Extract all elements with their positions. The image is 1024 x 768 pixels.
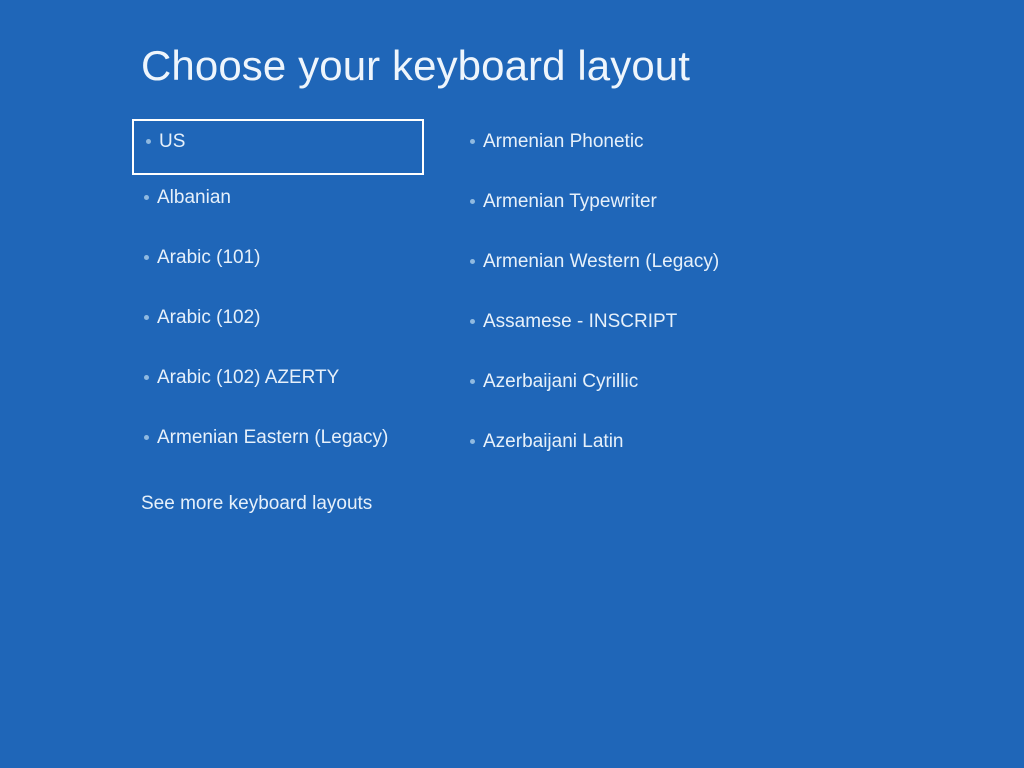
keyboard-layout-screen: Choose your keyboard layout US Albanian … (0, 0, 1024, 768)
keyboard-layout-label: Arabic (102) (157, 306, 424, 329)
keyboard-layout-list-right: Armenian Phonetic Armenian Typewriter Ar… (458, 119, 778, 479)
keyboard-layout-label: Arabic (102) AZERTY (157, 366, 424, 389)
bullet-icon (470, 439, 475, 444)
keyboard-layout-label: Azerbaijani Latin (483, 430, 778, 453)
keyboard-layout-option-us[interactable]: US (132, 119, 424, 175)
keyboard-layout-label: Arabic (101) (157, 246, 424, 269)
keyboard-layout-label: Armenian Phonetic (483, 130, 778, 153)
keyboard-layout-option-arabic-102-azerty[interactable]: Arabic (102) AZERTY (132, 355, 424, 415)
keyboard-layout-label: Armenian Western (Legacy) (483, 250, 778, 273)
bullet-icon (144, 255, 149, 260)
bullet-icon (144, 195, 149, 200)
bullet-icon (470, 379, 475, 384)
keyboard-layout-label: Armenian Typewriter (483, 190, 778, 213)
keyboard-layout-option-arabic-101[interactable]: Arabic (101) (132, 235, 424, 295)
keyboard-layout-list-left: US Albanian Arabic (101) Arabic (102) Ar… (132, 119, 424, 475)
bullet-icon (144, 315, 149, 320)
bullet-icon (470, 139, 475, 144)
keyboard-layout-option-albanian[interactable]: Albanian (132, 175, 424, 235)
keyboard-layout-option-assamese-inscript[interactable]: Assamese - INSCRIPT (458, 299, 778, 359)
keyboard-layout-option-azerbaijani-cyrillic[interactable]: Azerbaijani Cyrillic (458, 359, 778, 419)
bullet-icon (146, 139, 151, 144)
bullet-icon (470, 199, 475, 204)
keyboard-layout-option-azerbaijani-latin[interactable]: Azerbaijani Latin (458, 419, 778, 479)
keyboard-layout-option-armenian-phonetic[interactable]: Armenian Phonetic (458, 119, 778, 179)
bullet-icon (144, 435, 149, 440)
keyboard-layout-option-armenian-eastern-legacy[interactable]: Armenian Eastern (Legacy) (132, 415, 424, 475)
bullet-icon (470, 319, 475, 324)
keyboard-layout-option-armenian-western-legacy[interactable]: Armenian Western (Legacy) (458, 239, 778, 299)
keyboard-layout-option-armenian-typewriter[interactable]: Armenian Typewriter (458, 179, 778, 239)
keyboard-layout-label: Assamese - INSCRIPT (483, 310, 778, 333)
keyboard-layout-label: US (159, 130, 422, 153)
keyboard-layout-label: Azerbaijani Cyrillic (483, 370, 778, 393)
see-more-keyboard-layouts-link[interactable]: See more keyboard layouts (141, 492, 372, 516)
keyboard-layout-option-arabic-102[interactable]: Arabic (102) (132, 295, 424, 355)
page-title: Choose your keyboard layout (141, 40, 690, 92)
keyboard-layout-label: Armenian Eastern (Legacy) (157, 426, 424, 449)
bullet-icon (470, 259, 475, 264)
bullet-icon (144, 375, 149, 380)
keyboard-layout-label: Albanian (157, 186, 424, 209)
